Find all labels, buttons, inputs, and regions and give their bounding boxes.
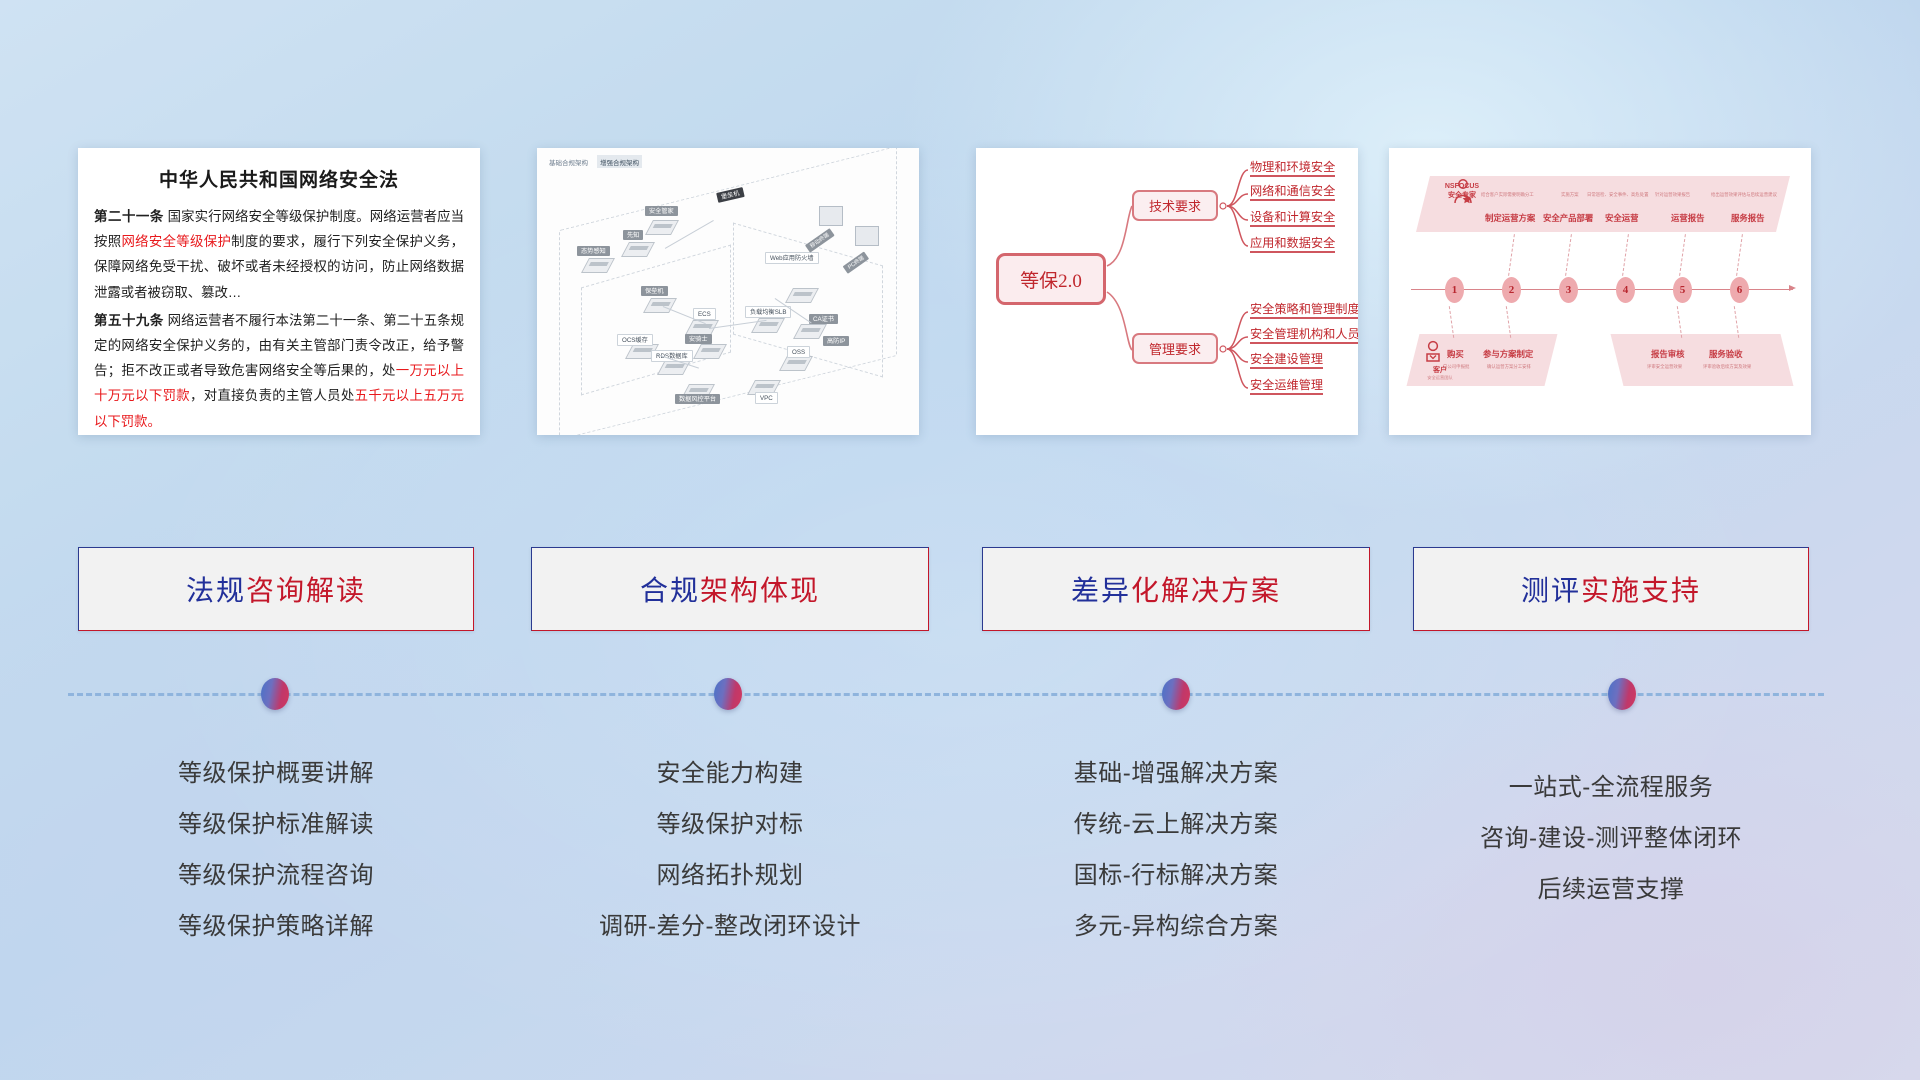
mindmap-leaf-mgmt-4: 安全运维管理 [1250,378,1323,395]
timeline-node-4[interactable] [1608,678,1636,710]
node-slb: 负载均衡SLB [745,306,791,318]
section-title-regulation-consulting[interactable]: 法规咨询解读 [78,547,474,631]
law-article-label: 第二十一条 [94,209,164,224]
bottom-step-main-2: 参与方案制定 [1483,348,1533,360]
title-part-b-4: 实施支持 [1581,575,1701,606]
title-part-a-1: 法规 [186,575,246,606]
bottom-step-main-1: 购买 [1447,348,1464,360]
title-part-b-1: 咨询解读 [246,575,366,606]
node-situation-awareness: 态势感知 [577,246,610,256]
section-title-differentiated-solution[interactable]: 差异化解决方案 [982,547,1370,631]
list-item: 多元-异构综合方案 [982,901,1370,952]
expert-brand: NSFOCUS [1434,182,1490,191]
timeline-node-2[interactable] [714,678,742,710]
list-item: 传统-云上解决方案 [982,799,1370,850]
law-paragraph-21: 第二十一条 国家实行网络安全等级保护制度。网络运营者应当按照网络安全等级保护制度… [94,204,464,305]
section-title-text-3: 差异化解决方案 [1071,569,1281,609]
node-bastion-host: 保垒机 [641,286,668,296]
top-step-sub-5: 给出运营效果评估与后续运营建议 [1711,192,1777,198]
bottom-step-sub-3: 评审安全运营效果 [1647,364,1682,370]
bottom-step-sub-4: 评审验收后续方案及效果 [1703,364,1751,370]
title-part-a-3: 差异 [1071,575,1131,606]
mindmap-branch-technical: 技术要求 [1132,190,1218,221]
title-part-b-2: 架构体现 [700,575,820,606]
bottom-step-sub-2: 确认运营方案分工安排 [1487,364,1531,370]
node-security-butler: 安全管家 [645,206,678,216]
node-risk-control: 数据风控平台 [675,394,720,404]
top-step-main-3: 安全运营 [1605,212,1639,224]
section-title-text-1: 法规咨询解读 [186,569,366,609]
node-xianzhi: 先知 [623,230,643,240]
step-number-1: 1 [1445,277,1464,303]
node-anqishi: 安骑士 [685,334,712,344]
timeline-node-1[interactable] [261,678,289,710]
timeline-node-3[interactable] [1162,678,1190,710]
card-service-timeline[interactable]: NSFOCUS 安全专家 结合客户实际需要明确分工 制定运营方案 实施方案 安全… [1389,148,1811,435]
mindmap-leaf-mgmt-3: 安全建设管理 [1250,352,1323,369]
timeline-axis-arrow [1789,285,1796,291]
title-part-a-2: 合规 [640,575,700,606]
icon-device-pc [855,226,879,246]
section-title-compliance-architecture[interactable]: 合规架构体现 [531,547,929,631]
mindmap-leaf-tech-3: 设备和计算安全 [1250,210,1335,227]
node-anti-ddos-ip: 高防IP [823,336,849,346]
card-cybersecurity-law[interactable]: 中华人民共和国网络安全法 第二十一条 国家实行网络安全等级保护制度。网络运营者应… [78,148,480,435]
section-titles-row: 法规咨询解读 合规架构体现 差异化解决方案 测评实施支持 [0,547,1920,635]
list-item: 等级保护标准解读 [78,799,474,850]
stem-top-5 [1679,234,1686,276]
card-compliance-architecture[interactable]: 基础合规架构 增强合规架构 堡垒机 [537,148,919,435]
section-title-evaluation-support[interactable]: 测评实施支持 [1413,547,1809,631]
preview-cards-row: 中华人民共和国网络安全法 第二十一条 国家实行网络安全等级保护制度。网络运营者应… [0,148,1920,438]
list-item: 一站式-全流程服务 [1413,762,1809,813]
architecture-tabs[interactable]: 基础合规架构 增强合规架构 [546,155,642,168]
mindmap-leaf-tech-2: 网络和通信安全 [1250,184,1335,201]
law-highlight: 网络安全等级保护 [121,234,231,249]
law-text-middle-2: ，对直接负责的主管人员处 [190,388,355,403]
step-number-4: 4 [1616,277,1635,303]
title-part-a-4: 测评 [1521,575,1581,606]
timeline-dashed-line [68,693,1824,696]
stem-top-6 [1736,234,1743,276]
tab-enhanced-architecture[interactable]: 增强合规架构 [597,155,642,168]
customer-person-icon [1423,340,1443,364]
stem-top-3 [1565,234,1572,276]
items-column-2: 安全能力构建 等级保护对标 网络拓扑规划 调研-差分-整改闭环设计 [531,748,929,952]
list-item: 调研-差分-整改闭环设计 [531,901,929,952]
mindmap-leaf-tech-4: 应用和数据安全 [1250,236,1335,253]
step-number-3: 3 [1559,277,1578,303]
node-vpc: VPC [755,392,778,404]
list-item: 咨询-建设-测评整体闭环 [1413,813,1809,864]
progress-timeline [68,692,1824,696]
node-oss: OSS [787,346,810,358]
list-item: 等级保护策略详解 [78,901,474,952]
list-item: 等级保护概要讲解 [78,748,474,799]
law-paragraph-59: 第五十九条 网络运营者不履行本法第二十一条、第二十五条规定的网络安全保护义务的，… [94,308,464,434]
list-item: 等级保护流程咨询 [78,850,474,901]
stem-top-4 [1622,234,1629,276]
section-items-row: 等级保护概要讲解 等级保护标准解读 等级保护流程咨询 等级保护策略详解 安全能力… [0,748,1920,1018]
list-item: 安全能力构建 [531,748,929,799]
items-column-1: 等级保护概要讲解 等级保护标准解读 等级保护流程咨询 等级保护策略详解 [78,748,474,952]
service-timeline: NSFOCUS 安全专家 结合客户实际需要明确分工 制定运营方案 实施方案 安全… [1389,148,1811,435]
customer-sub: 安全运营团队 [1417,375,1463,381]
step-number-2: 2 [1502,277,1521,303]
top-step-sub-3: 日常巡检、安全事件、高危处置 [1587,192,1648,198]
list-item: 基础-增强解决方案 [982,748,1370,799]
mindmap: 等保2.0 技术要求 管理要求 物理和环境安全 网络和通信安全 设备和计算安全 … [976,148,1358,435]
banner-customer-right [1611,334,1794,386]
card-dengbao-mindmap[interactable]: 等保2.0 技术要求 管理要求 物理和环境安全 网络和通信安全 设备和计算安全 … [976,148,1358,435]
list-item: 等级保护对标 [531,799,929,850]
mindmap-leaf-tech-1: 物理和环境安全 [1250,160,1335,177]
top-step-main-4: 运营报告 [1671,212,1705,224]
icon-device-mobile [819,206,843,226]
top-step-sub-2: 实施方案 [1561,192,1579,198]
step-number-6: 6 [1730,277,1749,303]
law-article-label-2: 第五十九条 [94,313,164,328]
stem-top-2 [1508,234,1515,276]
law-title: 中华人民共和国网络安全法 [94,165,464,192]
mindmap-branch-management: 管理要求 [1132,333,1218,364]
top-step-sub-4: 针对运营效果报告 [1655,192,1690,198]
items-column-4: 一站式-全流程服务 咨询-建设-测评整体闭环 后续运营支撑 [1413,762,1809,915]
node-ocs-cache: OCS缓存 [617,334,653,346]
list-item: 国标-行标解决方案 [982,850,1370,901]
bottom-step-main-3: 报告审核 [1651,348,1685,360]
section-title-text-4: 测评实施支持 [1521,569,1701,609]
title-part-b-3: 化解决方案 [1131,575,1281,606]
section-title-text-2: 合规架构体现 [640,569,820,609]
top-step-main-5: 服务报告 [1731,212,1765,224]
node-rds-db: RDS数据库 [651,350,693,362]
mindmap-leaf-mgmt-2: 安全管理机构和人员 [1250,327,1358,344]
top-step-main-2: 安全产品部署 [1543,212,1593,224]
items-column-3: 基础-增强解决方案 传统-云上解决方案 国标-行标解决方案 多元-异构综合方案 [982,748,1370,952]
node-ca-cert: CA证书 [809,314,838,324]
node-waf: Web应用防火墙 [765,252,819,264]
step-number-5: 5 [1673,277,1692,303]
top-step-sub-1: 结合客户实际需要明确分工 [1481,192,1534,198]
bottom-step-main-4: 服务验收 [1709,348,1743,360]
list-item: 后续运营支撑 [1413,864,1809,915]
bottom-step-sub-1: 向公司申报批 [1443,364,1469,370]
tab-basic-architecture[interactable]: 基础合规架构 [546,155,591,168]
mindmap-root: 等保2.0 [996,253,1106,305]
mindmap-leaf-mgmt-1: 安全策略和管理制度 [1250,302,1358,319]
top-step-main-1: 制定运营方案 [1485,212,1535,224]
architecture-diagram: 基础合规架构 增强合规架构 堡垒机 [537,148,919,435]
list-item: 网络拓扑规划 [531,850,929,901]
